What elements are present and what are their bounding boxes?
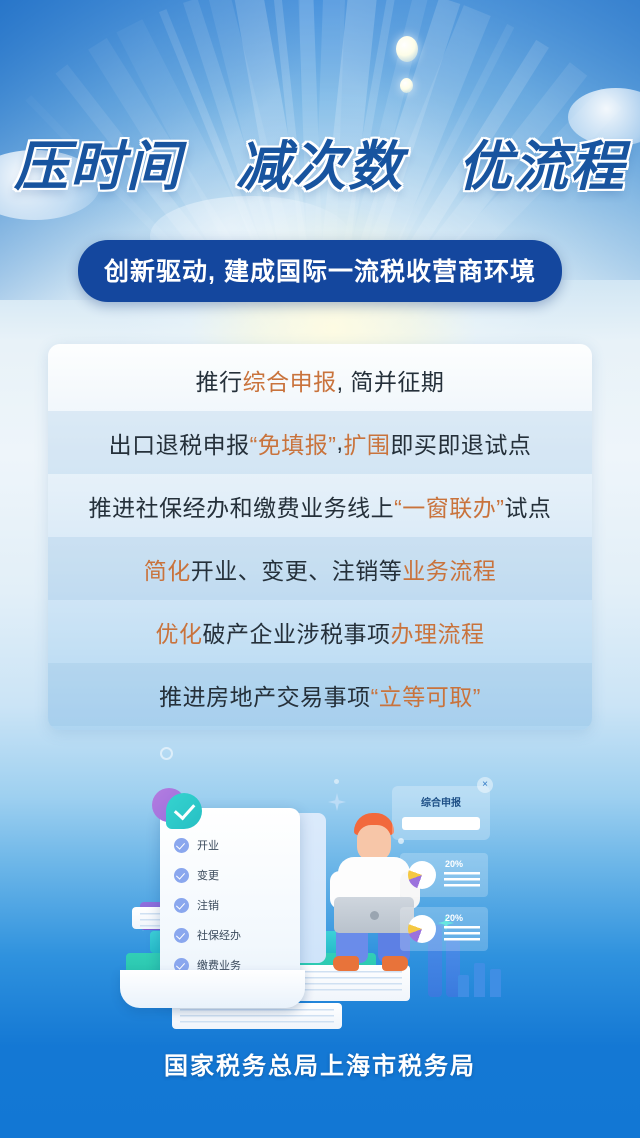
measure-highlight-text: “一窗联办” xyxy=(394,489,504,523)
checklist-items: 开业变更注销社保经办缴费业务 xyxy=(174,830,300,980)
measure-row[interactable]: 优化破产企业涉税事项办理流程 xyxy=(48,600,592,663)
stat-card-1: 20% xyxy=(400,853,488,897)
report-card-title: 综合申报 xyxy=(421,794,461,809)
checklist-item[interactable]: 注销 xyxy=(174,890,300,920)
check-bubble-icon xyxy=(166,793,202,829)
report-card: 综合申报 xyxy=(392,786,490,840)
illustration: 开业变更注销社保经办缴费业务 综合申报 × 20% xyxy=(0,735,640,1045)
measure-highlight-text: 业务流程 xyxy=(402,552,496,586)
checklist-item[interactable]: 社保经办 xyxy=(174,920,300,950)
measure-row[interactable]: 出口退税申报“免填报”, 扩围即买即退试点 xyxy=(48,411,592,474)
page-title-segment-3: 优流程 xyxy=(458,136,626,198)
checklist-item-label: 注销 xyxy=(197,897,219,913)
person-shoe-left xyxy=(333,956,359,971)
measure-text: 推进社保经办和缴费业务线上 xyxy=(89,489,395,523)
measure-text: 推行 xyxy=(196,363,243,397)
organization-name: 国家税务总局上海市税务局 xyxy=(0,1046,640,1081)
measure-highlight-text: 综合申报 xyxy=(243,363,337,397)
measure-highlight-text: 优化 xyxy=(156,615,203,649)
measure-highlight-text: “立等可取” xyxy=(371,678,481,712)
measure-row[interactable]: 简化开业、变更、注销等业务流程 xyxy=(48,537,592,600)
bar-1 xyxy=(458,975,469,997)
measure-highlight-text: 办理流程 xyxy=(391,615,485,649)
measure-highlight-text: 扩围 xyxy=(343,426,390,460)
measure-text: 破产企业涉税事项 xyxy=(203,615,391,649)
measure-text: , xyxy=(336,429,343,456)
measure-text: 推进房地产交易事项 xyxy=(159,678,371,712)
close-icon[interactable]: × xyxy=(477,777,493,793)
page-title-segment-2: 减次数 xyxy=(236,136,404,198)
stat-percent-1: 20% xyxy=(445,859,463,869)
stat-percent-2: 20% xyxy=(445,913,463,923)
bar-3 xyxy=(490,969,501,997)
person-shoe-right xyxy=(382,956,408,971)
sparkle-decoration-1 xyxy=(328,793,346,811)
pie-chart-icon-1 xyxy=(408,861,436,889)
check-icon xyxy=(174,868,189,883)
report-card-input-bar xyxy=(402,817,480,830)
measure-text: , 简并征期 xyxy=(337,363,445,397)
measure-highlight-text: 简化 xyxy=(144,552,191,586)
person-head xyxy=(357,825,391,861)
ring-decoration-1 xyxy=(160,747,173,760)
measures-panel: 推行综合申报, 简并征期出口退税申报“免填报”, 扩围即买即退试点推进社保经办和… xyxy=(48,344,592,730)
measure-text: 开业、变更、注销等 xyxy=(191,552,403,586)
stat-card-2: 20% xyxy=(400,907,488,951)
measure-row[interactable]: 推进社保经办和缴费业务线上“一窗联办”试点 xyxy=(48,474,592,537)
light-orb-large xyxy=(396,36,418,62)
paper-curl xyxy=(120,970,305,1008)
bar-chart-decoration xyxy=(458,957,518,997)
pie-chart-icon-2 xyxy=(408,915,436,943)
measure-row[interactable]: 推进房地产交易事项“立等可取” xyxy=(48,663,592,726)
checklist-item-label: 开业 xyxy=(197,837,219,853)
stat-lines-1 xyxy=(444,872,480,890)
poster-root: 压时间 减次数 优流程 创新驱动, 建成国际一流税收营商环境 推行综合申报, 简… xyxy=(0,0,640,1138)
subtitle-banner: 创新驱动, 建成国际一流税收营商环境 xyxy=(78,240,562,302)
page-title-segment-1: 压时间 xyxy=(14,136,182,198)
book-lines-4 xyxy=(180,1009,334,1025)
measure-text: 即买即退试点 xyxy=(390,426,531,460)
measure-highlight-text: “免填报” xyxy=(250,426,337,460)
checklist-item[interactable]: 变更 xyxy=(174,860,300,890)
checklist-item[interactable]: 开业 xyxy=(174,830,300,860)
measure-row[interactable]: 推行综合申报, 简并征期 xyxy=(48,348,592,411)
check-icon xyxy=(174,898,189,913)
subtitle-container: 创新驱动, 建成国际一流税收营商环境 xyxy=(0,240,640,302)
checklist-item-label: 社保经办 xyxy=(197,927,241,943)
measure-text: 出口退税申报 xyxy=(109,426,250,460)
light-orb-small xyxy=(400,78,413,93)
measure-text: 试点 xyxy=(504,489,551,523)
stat-lines-2 xyxy=(444,926,480,944)
checklist-item-label: 变更 xyxy=(197,867,219,883)
page-title: 压时间 减次数 优流程 xyxy=(0,136,640,198)
bar-2 xyxy=(474,963,485,997)
book-lines-3 xyxy=(296,971,402,995)
check-icon xyxy=(174,838,189,853)
dot-decoration-2 xyxy=(334,779,339,784)
check-icon xyxy=(174,928,189,943)
